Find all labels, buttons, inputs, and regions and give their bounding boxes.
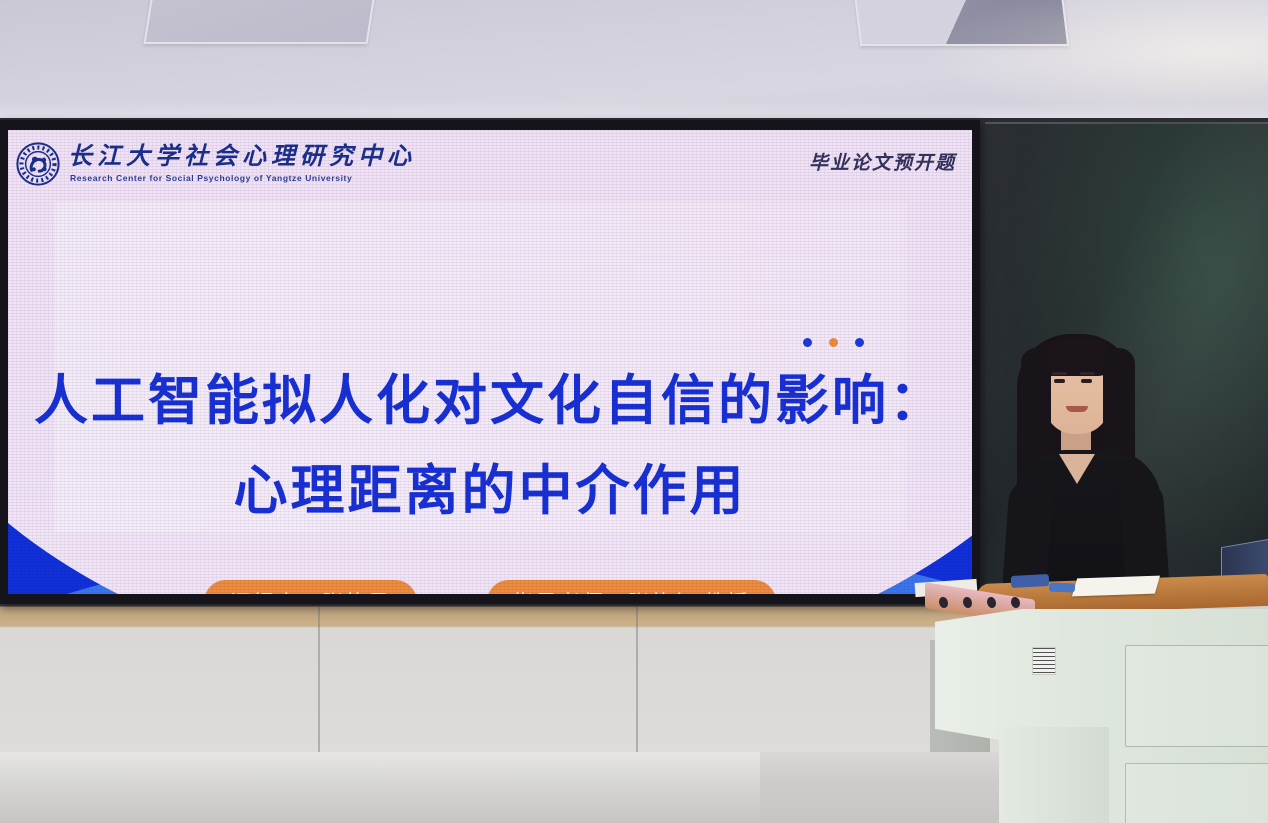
slide-header: 长江大学社会心理研究中心 Research Center for Social … xyxy=(8,130,972,192)
slide-corner-tag: 毕业论文预开题 xyxy=(809,148,956,175)
eyebrow-left xyxy=(1052,372,1067,375)
logo-english-name: Research Center for Social Psychology of… xyxy=(70,174,416,183)
slide-title-line-2: 心理距离的中介作用 xyxy=(8,464,972,518)
rail-port[interactable] xyxy=(963,596,972,608)
advisor-pill: 指导老师：张艳红 教授 xyxy=(487,580,776,594)
asset-label-sticker xyxy=(1032,647,1056,675)
dot-blue-left xyxy=(803,338,812,347)
floor-reflection xyxy=(0,752,760,823)
slide-title-block: 人工智能拟人化对文化自信的影响： 心理距离的中介作用 xyxy=(8,374,972,518)
logo-chinese-name: 长江大学社会心理研究中心 xyxy=(68,145,416,169)
rail-port[interactable] xyxy=(987,596,996,608)
classroom-photo: 长江大学社会心理研究中心 Research Center for Social … xyxy=(0,0,1268,823)
presentation-slide[interactable]: 长江大学社会心理研究中心 Research Center for Social … xyxy=(8,130,972,594)
lectern-access-panel-lower[interactable] xyxy=(1125,763,1268,823)
presenter-pill: 汇报人：张艳君 xyxy=(204,580,417,594)
blue-object-right xyxy=(1049,583,1075,593)
rail-port[interactable] xyxy=(1011,596,1020,608)
dot-blue-right xyxy=(855,338,864,347)
university-emblem-icon xyxy=(16,142,60,186)
decorative-dots xyxy=(803,338,864,347)
ceiling-light-panel-left xyxy=(144,0,381,44)
eyebrow-right xyxy=(1080,372,1095,375)
eye-right xyxy=(1081,379,1092,383)
wall-panel-seam xyxy=(636,606,638,756)
lectern[interactable] xyxy=(925,585,1268,823)
wall-panel-seam xyxy=(318,606,320,756)
slide-credit-pills: 汇报人：张艳君 指导老师：张艳红 教授 xyxy=(8,580,972,594)
eye-left xyxy=(1054,379,1065,383)
slide-title-line-1: 人工智能拟人化对文化自信的影响： xyxy=(8,374,972,428)
ceiling xyxy=(0,0,1268,128)
rail-port[interactable] xyxy=(939,596,948,608)
mouth xyxy=(1066,406,1088,412)
lectern-pedestal xyxy=(999,727,1109,823)
blue-object-left xyxy=(1011,574,1050,588)
wall-paneling-below-screen xyxy=(0,600,1010,760)
paper-sheet-right xyxy=(1072,576,1160,597)
dot-orange xyxy=(829,338,838,347)
ceiling-glow xyxy=(928,0,1268,128)
lectern-access-panel-upper[interactable] xyxy=(1125,645,1268,747)
center-logo: 长江大学社会心理研究中心 Research Center for Social … xyxy=(16,142,416,186)
led-display-screen[interactable]: 长江大学社会心理研究中心 Research Center for Social … xyxy=(0,120,980,604)
logo-text-group: 长江大学社会心理研究中心 Research Center for Social … xyxy=(68,145,416,183)
